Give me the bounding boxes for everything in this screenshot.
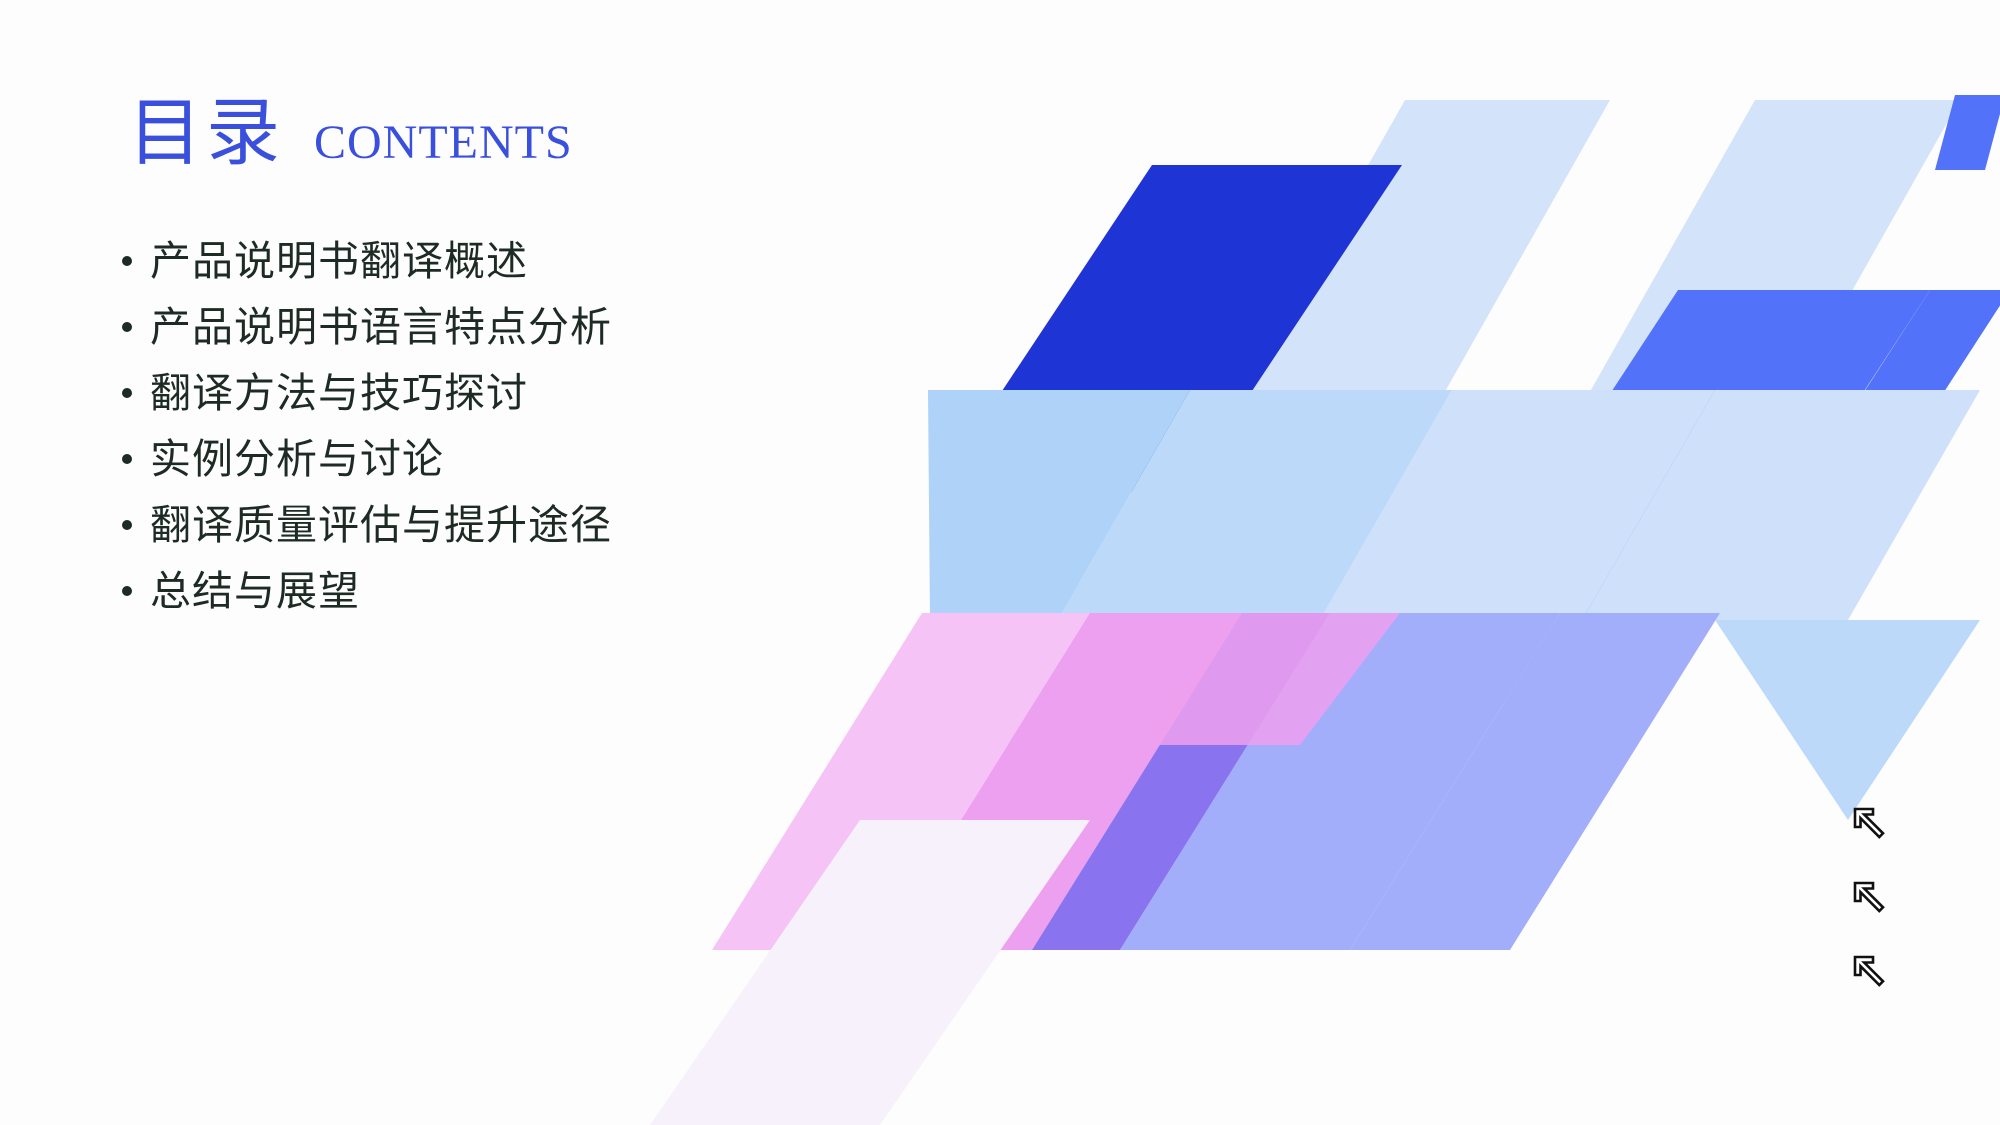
arrow-up-left-icon[interactable]	[1852, 806, 1888, 842]
presentation-slide: 目录 CONTENTS 产品说明书翻译概述 产品说明书语言特点分析 翻译方法与技…	[0, 0, 2000, 1125]
arrow-icon-stack	[1852, 806, 1888, 990]
list-item[interactable]: 翻译方法与技巧探讨	[122, 364, 882, 430]
bright-blue-sliver-corner	[1935, 95, 2000, 170]
periwinkle-parallelogram	[1120, 613, 1560, 950]
arrow-up-left-icon[interactable]	[1852, 880, 1888, 916]
list-item[interactable]: 翻译质量评估与提升途径	[122, 496, 882, 562]
list-item[interactable]: 实例分析与讨论	[122, 430, 882, 496]
light-blue-triangle-c	[1452, 620, 1715, 820]
bright-blue-parallelogram	[1462, 290, 1930, 620]
royal-blue-parallelogram	[935, 165, 1402, 492]
periwinkle-parallelogram-right	[1350, 613, 1720, 950]
page-title-english: CONTENTS	[314, 119, 573, 167]
light-blue-parallelogram-center	[1058, 390, 1452, 620]
toc-item-label: 翻译质量评估与提升途径	[150, 496, 612, 554]
toc-item-label: 产品说明书翻译概述	[150, 232, 528, 290]
list-item[interactable]: 总结与展望	[122, 562, 882, 628]
light-blue-parallelogram-far-right	[1582, 390, 1980, 620]
light-blue-triangle-b	[1190, 620, 1452, 820]
pale-blue-parallelogram-top	[1190, 100, 1610, 480]
bullet-dot-icon	[122, 322, 132, 332]
magenta-parallelogram	[880, 613, 1242, 950]
pink-parallelogram	[712, 613, 1090, 950]
toc-item-label: 翻译方法与技巧探讨	[150, 364, 528, 422]
toc-item-label: 产品说明书语言特点分析	[150, 298, 612, 356]
faint-lilac-parallelogram	[650, 820, 1090, 1125]
table-of-contents-list: 产品说明书翻译概述 产品说明书语言特点分析 翻译方法与技巧探讨 实例分析与讨论 …	[122, 232, 882, 628]
light-blue-triangle-d	[1715, 620, 1980, 820]
bullet-dot-icon	[122, 586, 132, 596]
magenta-parallelogram-upper	[1140, 613, 1400, 745]
bullet-dot-icon	[122, 388, 132, 398]
pale-blue-parallelogram-top-right	[1540, 100, 1960, 480]
light-blue-parallelogram-left	[928, 390, 1190, 620]
bullet-dot-icon	[122, 454, 132, 464]
page-title: 目录 CONTENTS	[128, 96, 573, 170]
page-title-chinese: 目录	[128, 96, 284, 170]
toc-item-label: 实例分析与讨论	[150, 430, 444, 488]
light-blue-parallelogram-right	[1320, 390, 1715, 620]
arrow-up-left-icon[interactable]	[1852, 954, 1888, 990]
list-item[interactable]: 产品说明书翻译概述	[122, 232, 882, 298]
bullet-dot-icon	[122, 256, 132, 266]
light-blue-triangle-a	[930, 620, 1190, 820]
purple-parallelogram	[1032, 613, 1330, 950]
toc-item-label: 总结与展望	[150, 562, 360, 620]
list-item[interactable]: 产品说明书语言特点分析	[122, 298, 882, 364]
bullet-dot-icon	[122, 520, 132, 530]
bright-blue-parallelogram-far-right	[1820, 290, 2000, 460]
